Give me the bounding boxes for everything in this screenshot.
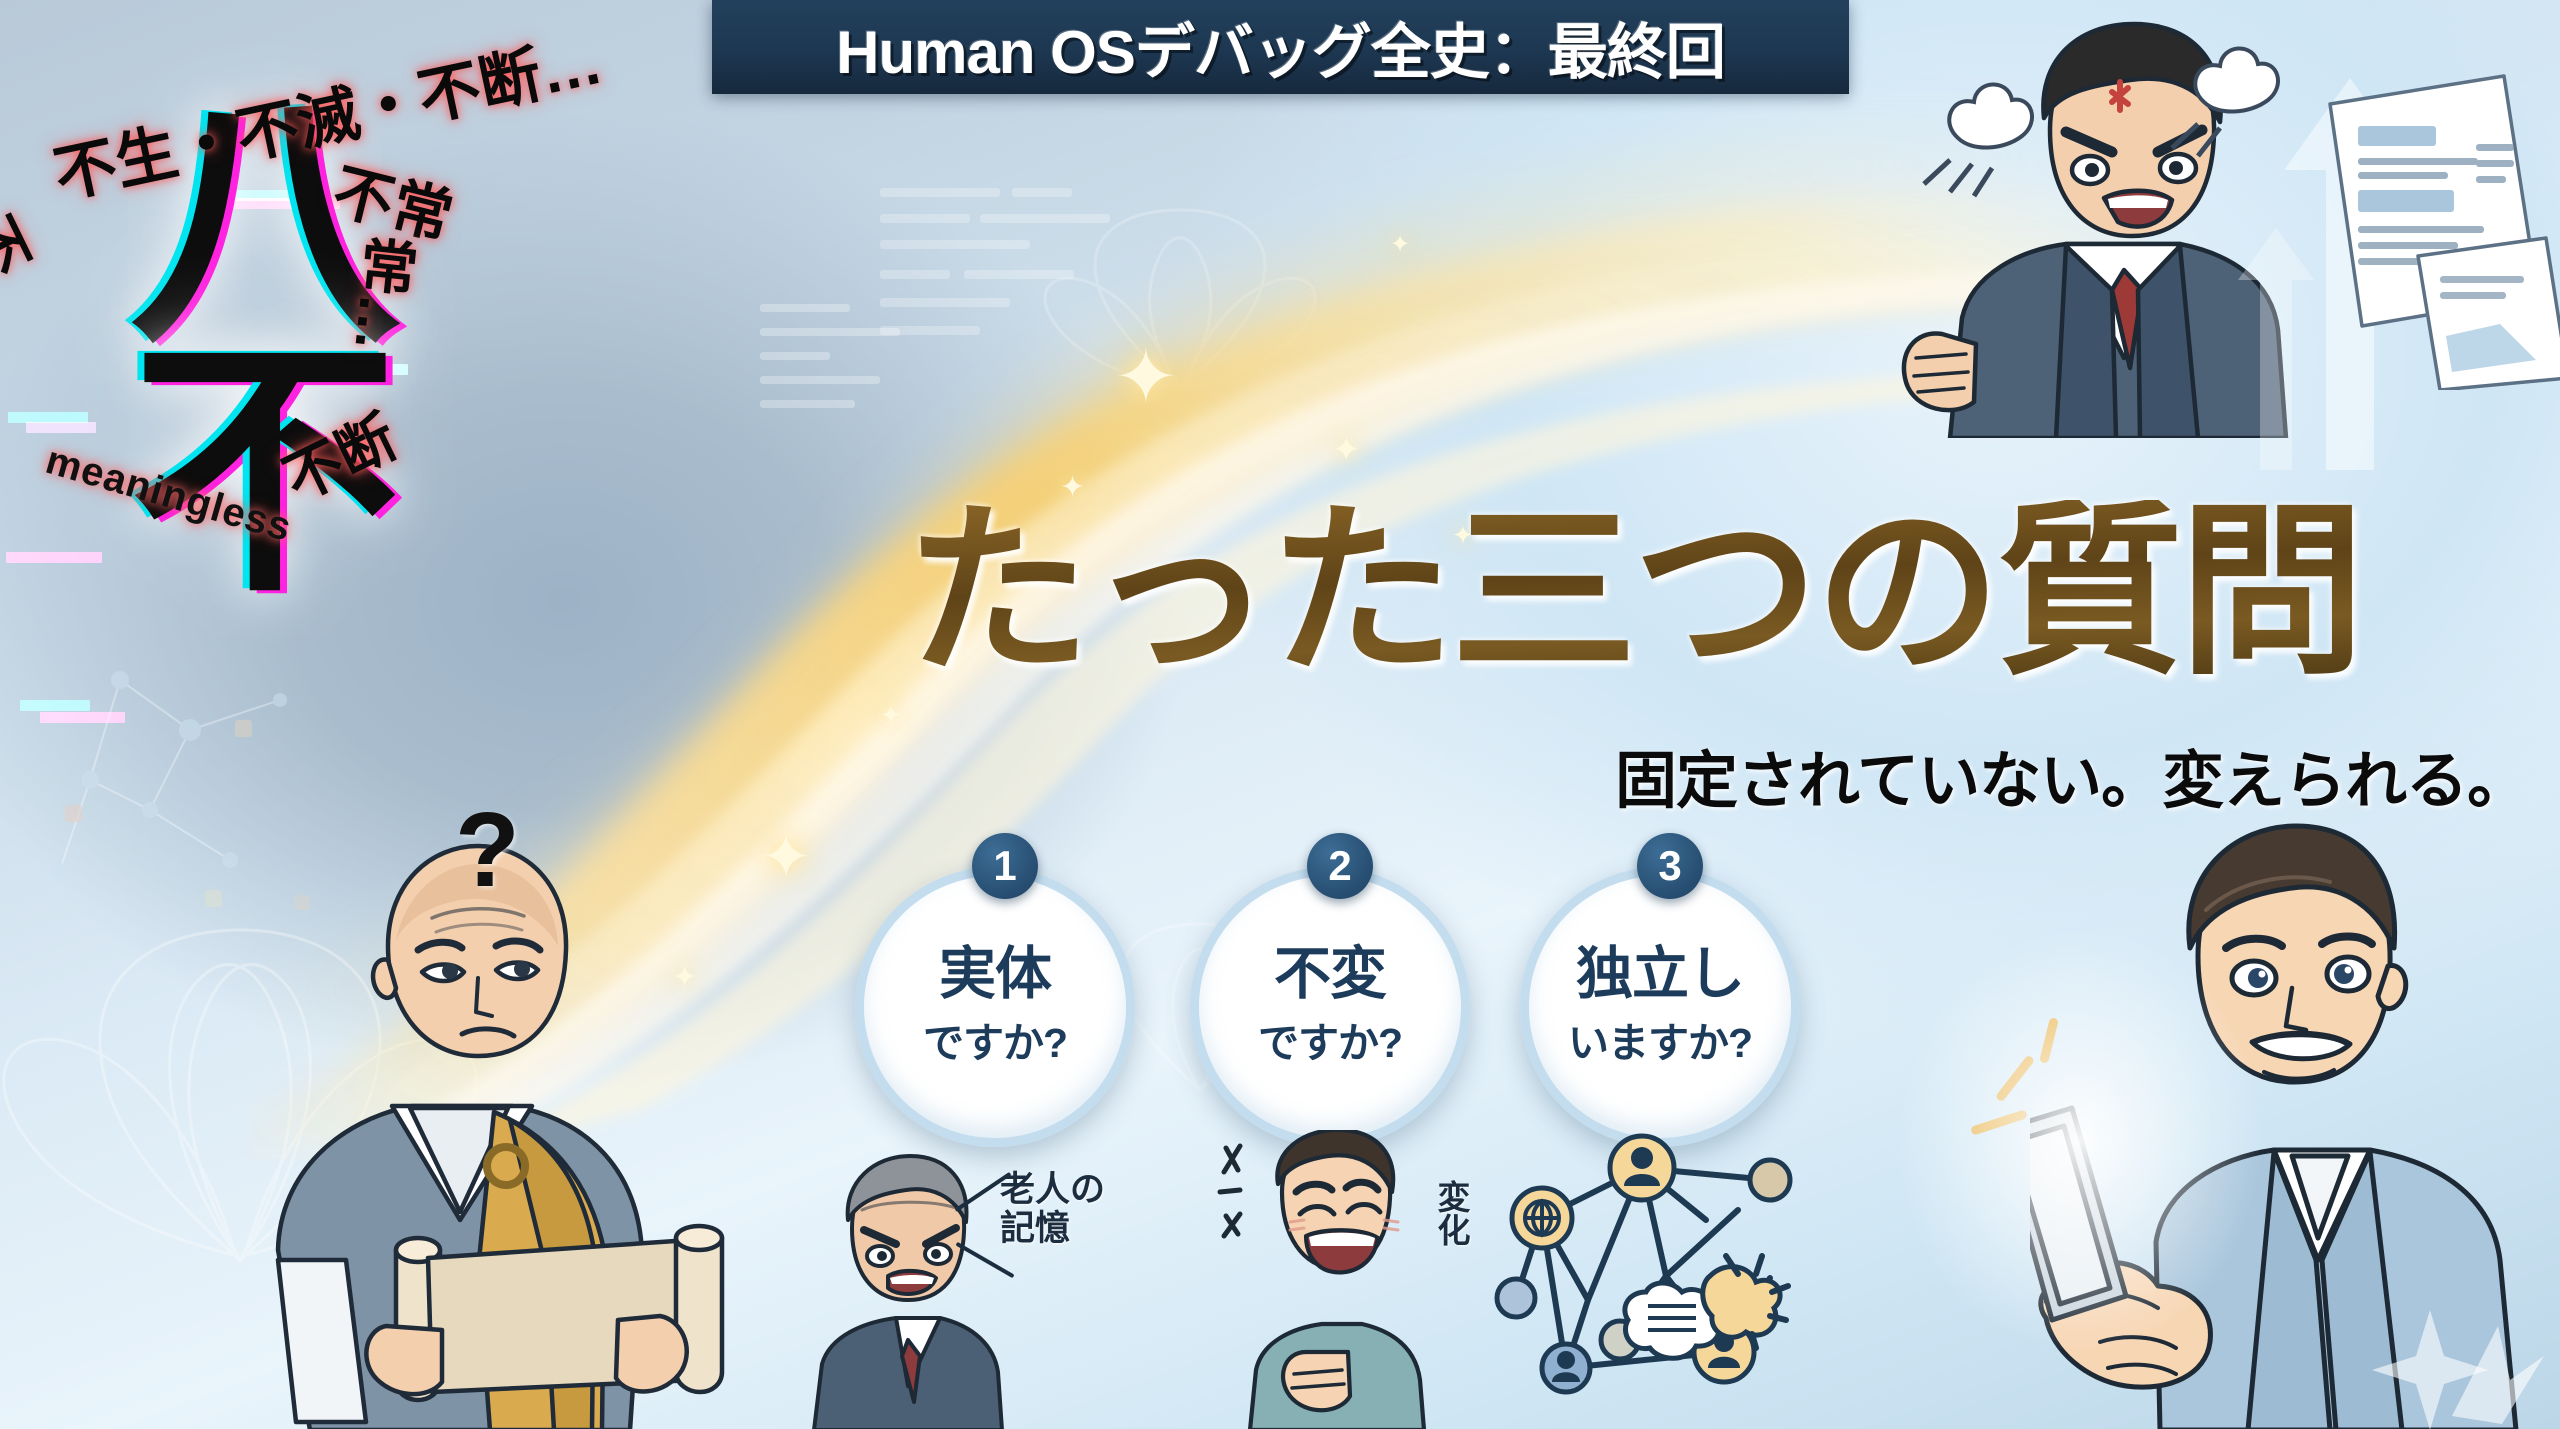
glitch-arc-right-2: 常… [332, 232, 428, 356]
sparkle-icon: ✦ [880, 700, 902, 731]
question-card-1[interactable]: 1 実体 ですか? [855, 845, 1155, 1145]
question-label-secondary: ですか? [1258, 1009, 1402, 1069]
puzzled-monk-with-scroll [160, 820, 760, 1429]
glitch-bar [20, 700, 90, 711]
glitch-logo-group: 八 不 不生・不滅・不断… 不生・不滅 不常 常… 不断 meaningless [0, 40, 690, 600]
caption-line: 化 [1433, 1213, 1470, 1246]
question-mark-icon: ? [455, 790, 520, 911]
question-label-primary: 独立し [1576, 945, 1744, 1003]
glitch-arc-left: 不生・不滅 [0, 190, 43, 393]
corner-arrow-icon [2440, 1320, 2550, 1429]
phone-light-burst [1900, 930, 2260, 1350]
background-document-lines-far-left [760, 300, 980, 440]
question-number-badge: 3 [1637, 833, 1703, 899]
sparkle-icon: ✦ [760, 820, 812, 893]
caption-label-2: 変化 [1432, 1180, 1469, 1246]
caption-line: 変 [1433, 1180, 1470, 1213]
poster-canvas: ✦ ✦ ✦ ✦ ✦ ✦ ✦ ✦ Human OSデバッグ全史：最終回 八 不 不… [0, 0, 2560, 1429]
question-card-2[interactable]: 2 不変 ですか? [1190, 845, 1490, 1145]
question-circle[interactable]: 実体 ですか? [855, 867, 1135, 1147]
document-sheets-icon [2300, 60, 2560, 390]
page-title: たった三つの質問 [905, 500, 2361, 686]
question-number-badge: 1 [972, 833, 1038, 899]
banner-title: Human OSデバッグ全史：最終回 [836, 4, 1725, 91]
header-banner: Human OSデバッグ全史：最終回 [712, 0, 1849, 94]
laughing-young-man [1210, 1130, 1440, 1429]
caption-line: 老人の [1000, 1170, 1105, 1209]
glitch-bar [6, 552, 102, 563]
sparkle-icon: ✦ [1390, 230, 1410, 259]
question-label-secondary: いますか? [1568, 1009, 1752, 1069]
glitch-bar [26, 422, 96, 433]
caption-label-1: 老人の 記憶 [1000, 1170, 1105, 1248]
question-label-secondary: ですか? [923, 1009, 1067, 1069]
caption-line: 記憶 [1000, 1209, 1105, 1248]
angry-old-man [790, 1150, 1010, 1429]
question-label-primary: 実体 [939, 945, 1051, 1003]
sparkle-icon: ✦ [1332, 430, 1361, 470]
glitch-bar [40, 712, 125, 723]
question-number-badge: 2 [1307, 833, 1373, 899]
question-label-primary: 不変 [1274, 945, 1386, 1003]
network-diagram [1470, 1090, 1860, 1429]
question-circle[interactable]: 不変 ですか? [1190, 867, 1470, 1147]
